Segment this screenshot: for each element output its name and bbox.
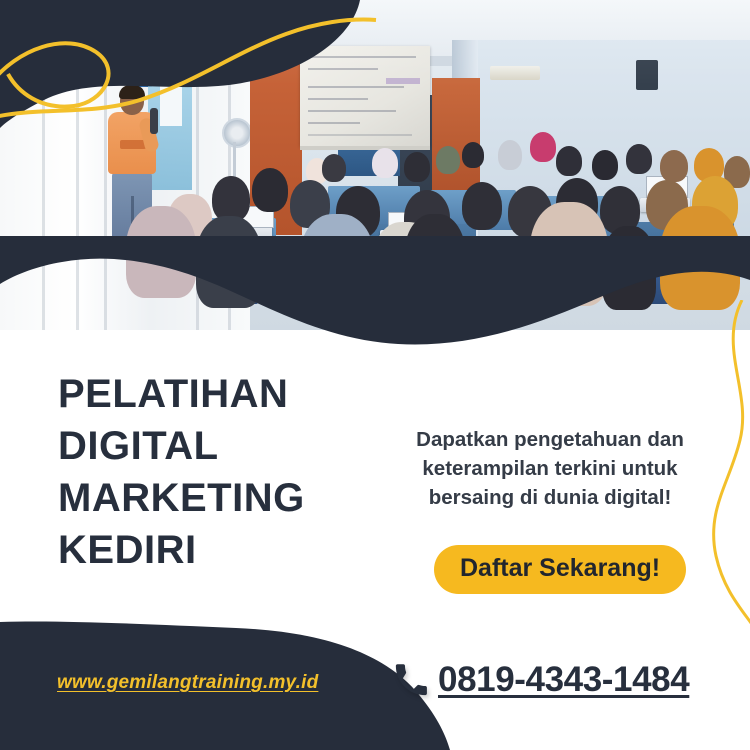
headline-line-4: KEDIRI	[58, 524, 378, 576]
tagline-text: Dapatkan pengetahuan dan keterampilan te…	[385, 425, 715, 512]
headline-line-1: PELATIHAN	[58, 368, 378, 420]
page-title: PELATIHAN DIGITAL MARKETING KEDIRI	[58, 368, 378, 576]
yellow-swirl-decoration	[0, 0, 420, 150]
middle-wave-divider	[0, 236, 750, 386]
phone-contact[interactable]: 0819-4343-1484	[393, 660, 689, 700]
phone-number: 0819-4343-1484	[438, 660, 689, 700]
register-now-button[interactable]: Daftar Sekarang!	[434, 545, 686, 594]
poster-root: PELATIHAN DIGITAL MARKETING KEDIRI Dapat…	[0, 0, 750, 750]
website-link[interactable]: www.gemilangtraining.my.id	[57, 672, 318, 694]
phone-handset-icon	[393, 662, 429, 698]
headline-line-2: DIGITAL	[58, 420, 378, 472]
headline-line-3: MARKETING	[58, 472, 378, 524]
